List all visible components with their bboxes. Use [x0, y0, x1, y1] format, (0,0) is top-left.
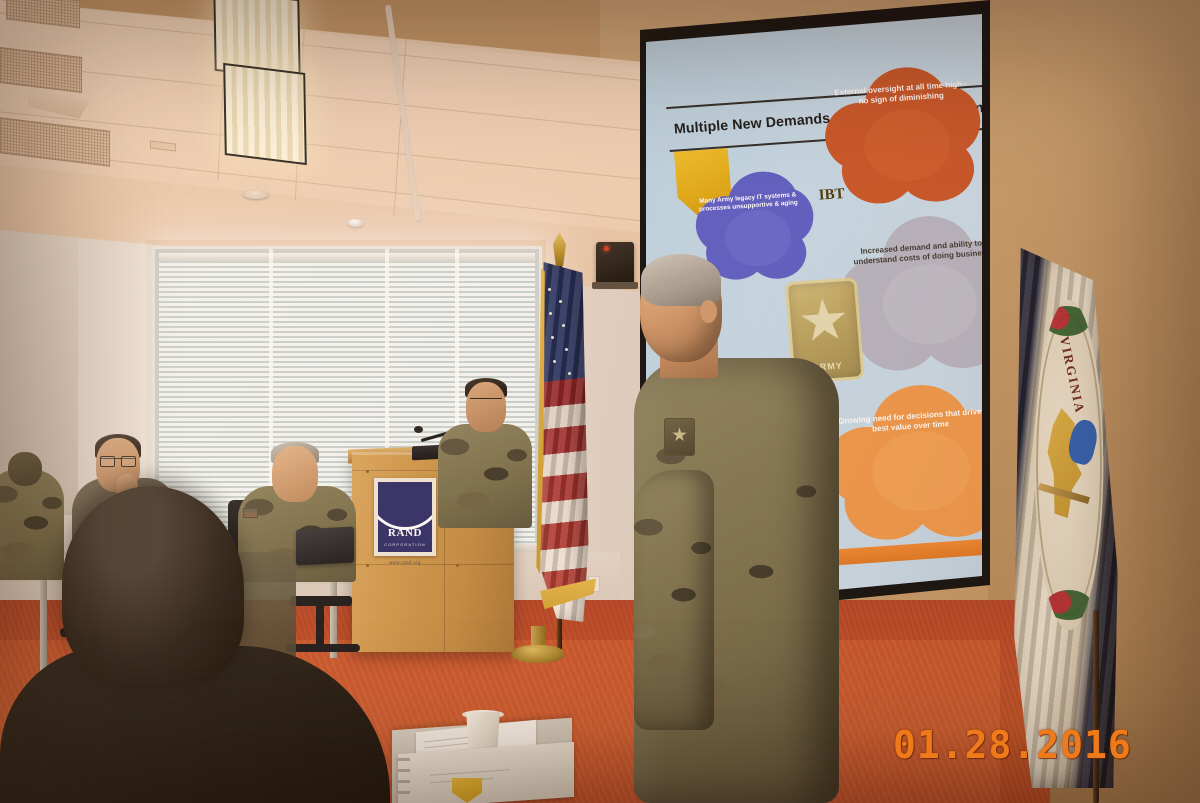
rand-logo: RAND CORPORATION — [378, 482, 432, 552]
far-left-attendee-head — [8, 452, 42, 486]
conference-room-photograph: Multiple New Demands Confront Today's Ar… — [0, 0, 1200, 803]
chair-column — [316, 604, 324, 648]
wall-camera-device — [596, 242, 634, 284]
ceiling-light-panel — [223, 63, 307, 165]
foreground-attendee-head — [62, 486, 244, 686]
eyeglasses-icon — [100, 458, 136, 467]
rand-url-label: www.rand.org — [374, 560, 436, 565]
unit-shoulder-patch-icon — [664, 418, 695, 456]
blinds-headrail — [159, 253, 535, 262]
rand-subtitle: CORPORATION — [378, 542, 432, 547]
person-far-left-attendee — [0, 470, 64, 580]
tablet-device[interactable] — [296, 526, 354, 565]
patch-star-icon — [672, 427, 687, 442]
podium-speaker-head — [466, 382, 506, 432]
ceiling-speaker-icon — [243, 190, 269, 199]
person-podium-speaker — [438, 424, 532, 528]
wall-device-mount — [592, 282, 638, 289]
dome-camera-icon — [348, 219, 364, 227]
status-led-icon — [604, 246, 609, 251]
standing-general-arm — [634, 470, 714, 730]
virginia-flagpole — [1093, 610, 1099, 803]
flag-shoulder-patch-icon — [243, 508, 258, 518]
seated-officer-head — [272, 446, 318, 502]
flagstand-base — [512, 645, 564, 663]
chair-foot — [286, 644, 360, 652]
microphone-icon — [414, 426, 423, 433]
standing-general-ear — [700, 300, 717, 323]
eyeglasses-icon — [470, 398, 502, 406]
standing-general-hair — [641, 254, 721, 306]
star-icon — [799, 297, 849, 346]
rand-wordmark: RAND — [378, 527, 432, 539]
rand-arc-icon — [378, 482, 432, 530]
rand-logo-plaque: RAND CORPORATION — [374, 478, 436, 556]
camera-date-stamp: 01.28.2016 — [893, 723, 1132, 767]
binder-rings-icon — [398, 758, 410, 800]
table-leg — [40, 576, 47, 676]
